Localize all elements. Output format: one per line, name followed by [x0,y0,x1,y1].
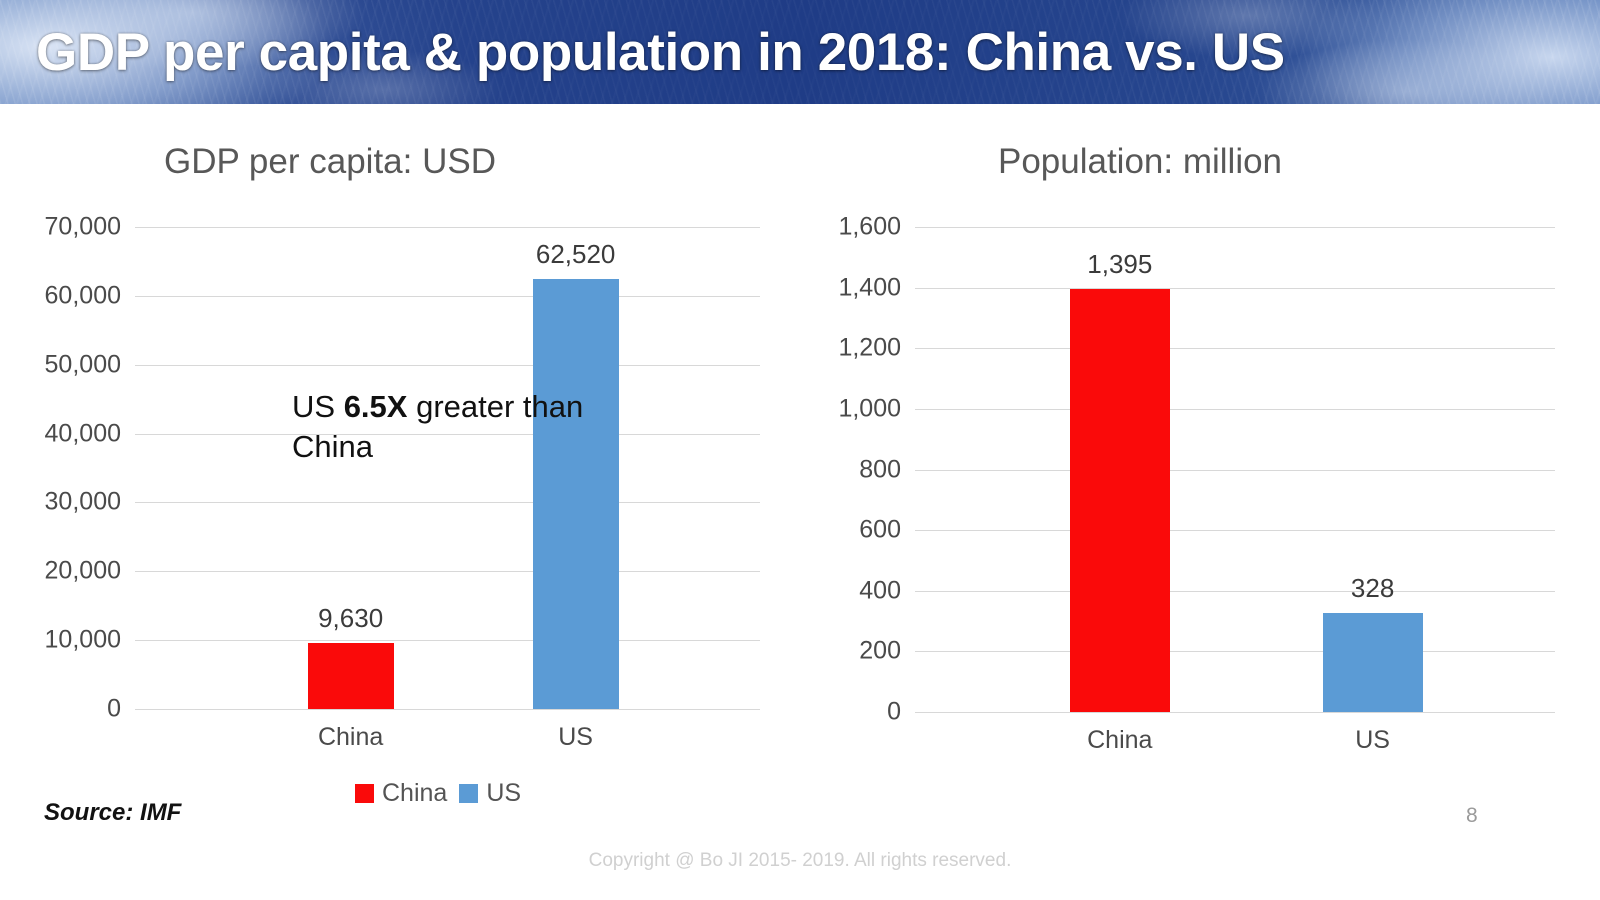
gridline [135,365,760,366]
legend-swatch-us [459,784,478,803]
gridline [915,348,1555,349]
y-axis-tick-label: 400 [859,576,901,605]
gridline [135,709,760,710]
plot-area-population: 02004006008001,0001,2001,4001,6001,395Ch… [915,227,1555,712]
y-axis-tick-label: 60,000 [45,281,121,310]
callout-gdp: US 6.5X greater than China [292,387,592,468]
legend-label: US [486,779,521,808]
callout-gdp-prefix: US [292,389,344,424]
source-note: Source: IMF [44,799,181,827]
bar-value-label: 1,395 [1087,249,1152,280]
legend-item[interactable]: US [459,779,521,808]
bar-us[interactable]: 328US [1323,613,1423,712]
gridline [135,571,760,572]
gridline [915,227,1555,228]
x-axis-category-label: China [1087,726,1152,755]
chart-title-gdp: GDP per capita: USD [0,142,800,182]
x-axis-category-label: China [318,723,383,752]
bar-value-label: 9,630 [318,603,383,634]
gridline [915,409,1555,410]
gridline [915,651,1555,652]
gridline [135,296,760,297]
y-axis-tick-label: 1,400 [838,273,901,302]
slide-title: GDP per capita & population in 2018: Chi… [0,0,1600,104]
y-axis-tick-label: 200 [859,637,901,666]
header-banner: GDP per capita & population in 2018: Chi… [0,0,1600,104]
legend-label: China [382,779,447,808]
y-axis-tick-label: 0 [107,695,121,724]
bar-china[interactable]: 9,630China [308,643,394,709]
chart-title-population: Population: million [800,142,1600,182]
gridline [135,640,760,641]
bar-value-label: 62,520 [536,239,616,270]
y-axis-tick-label: 1,600 [838,213,901,242]
x-axis-category-label: US [558,723,593,752]
gridline [915,712,1555,713]
copyright-notice: Copyright @ Bo JI 2015- 2019. All rights… [0,850,1600,872]
bar-us[interactable]: 62,520US [533,279,619,709]
y-axis-tick-label: 70,000 [45,213,121,242]
slide-body: GDP per capita: USD 010,00020,00030,0004… [0,104,1600,900]
gridline [915,288,1555,289]
legend-swatch-china [355,784,374,803]
panel-gdp-per-capita: GDP per capita: USD 010,00020,00030,0004… [0,104,800,900]
gridline [135,502,760,503]
gridline [915,470,1555,471]
gridline [135,227,760,228]
x-axis-category-label: US [1355,726,1390,755]
y-axis-tick-label: 20,000 [45,557,121,586]
y-axis-tick-label: 600 [859,516,901,545]
y-axis-tick-label: 1,200 [838,334,901,363]
bar-value-label: 328 [1351,573,1394,604]
y-axis-tick-label: 0 [887,698,901,727]
gridline [915,591,1555,592]
y-axis-tick-label: 800 [859,455,901,484]
callout-gdp-accent: 6.5X [344,389,408,424]
y-axis-tick-label: 50,000 [45,350,121,379]
panel-population: Population: million 02004006008001,0001,… [800,104,1600,900]
y-axis-tick-label: 40,000 [45,419,121,448]
page-number: 8 [1466,804,1478,828]
y-axis-tick-label: 10,000 [45,626,121,655]
legend-item[interactable]: China [355,779,447,808]
y-axis-tick-label: 30,000 [45,488,121,517]
legend-gdp: ChinaUS [355,779,521,808]
bar-china[interactable]: 1,395China [1070,289,1170,712]
y-axis-tick-label: 1,000 [838,394,901,423]
gridline [915,530,1555,531]
plot-area-gdp: 010,00020,00030,00040,00050,00060,00070,… [135,227,760,709]
